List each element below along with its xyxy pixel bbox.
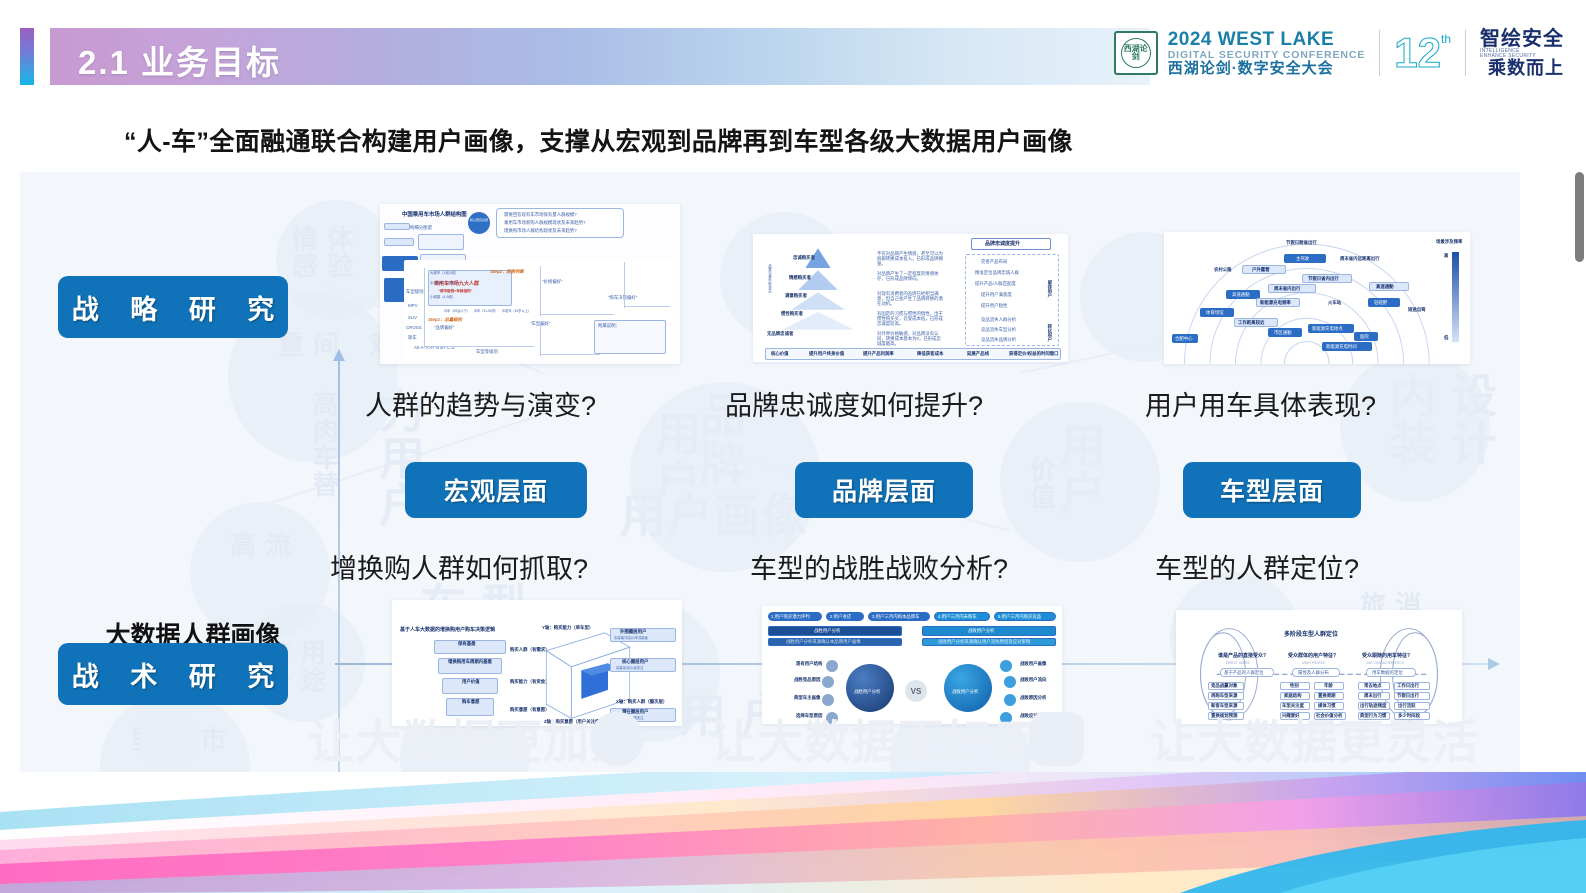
thumb3-label-6: 周末省内出行 xyxy=(1274,287,1300,292)
logo-line-3: 西湖论剑·数字安全大会 xyxy=(1168,61,1366,77)
thumb5-right-icon-1 xyxy=(1004,676,1016,688)
thumb1-step1: Step1：总量级别 xyxy=(428,318,462,323)
thumb1-tag-d: “购车决策偏好” xyxy=(608,296,637,301)
thumb4-callout-sub-0: 中高端/中高价/车流量级 xyxy=(614,637,648,641)
thumb2-bottom-item-4: 获得定价/权益的时间窗口 xyxy=(1009,352,1059,357)
thumbnail-brand-bottom[interactable]: 1.用户购买潜力评判 2.用户进店 3.用户三月内购本品牌车 4.用户三月内未购… xyxy=(762,606,1062,724)
thumb3-label-18: 新能源充电时间 xyxy=(1326,345,1357,350)
question-model-lower: 车型的人群定位? xyxy=(1155,547,1359,586)
thumb5-left-sub: 战胜用户分析来源确认本品牌用户画像 xyxy=(786,640,861,645)
thumb6-item-label-1-3: 置换周期 xyxy=(1318,694,1336,699)
decorative-ribbons xyxy=(0,772,1586,893)
layer-label-model: 车型层面 xyxy=(1220,472,1324,508)
thumb5-left-circle-label: 战胜用户分析 xyxy=(854,690,880,695)
thumb2-group-convert: 转化用户 xyxy=(1047,324,1052,342)
thumb1-axis-h3 xyxy=(540,354,600,355)
thumb3-label-11: 轻越野 xyxy=(1374,301,1387,306)
thumb1-axis-v2 xyxy=(540,266,541,316)
thumb6-item-label-0-1: 再购车型来源 xyxy=(1211,694,1237,699)
thumb5-step-label-0: 1.用户购买潜力评判 xyxy=(771,615,810,620)
bg-tag-4: 高 流 xyxy=(230,532,292,559)
thumb1-city-tier-2: 小城镇（4-5线） xyxy=(430,296,455,300)
thumb1-box-b xyxy=(384,238,414,246)
thumb5-right-item-2: 战败原因分析 xyxy=(1020,696,1046,701)
bg-tag-12: 内 设装 计 xyxy=(1390,372,1498,469)
thumb1-x-ticks: A0 A- A A+ B B+ C D xyxy=(414,346,455,351)
layer-pill-macro[interactable]: 宏观层面 xyxy=(405,462,587,518)
thumb1-tag-a: “品牌偏好” xyxy=(434,326,455,331)
thumb1-axis-v xyxy=(424,268,425,348)
tactics-research-label: 战 术 研 究 xyxy=(60,655,287,694)
thumb5-left-header: 战胜用户分析 xyxy=(814,629,840,634)
thumb5-step-label-4: 5.用户三月内购买竞品 xyxy=(998,615,1041,620)
thumb6-chip-label-1: 属性及人群分布 xyxy=(1298,671,1329,676)
thumb5-right-circle-label: 战败用户分析 xyxy=(952,690,978,695)
slogan-top: 智绘安全 xyxy=(1480,29,1564,49)
thumb4-callout-label-0: 外围圈层用户 xyxy=(620,630,646,635)
thumb5-step-label-3: 4.用户三月内未购车 xyxy=(938,615,977,620)
thumb3-label-16: 新能源充电地点 xyxy=(1312,327,1343,332)
thumb3-label-1: 周末省内远距离出行 xyxy=(1340,257,1380,262)
ribbon-svg xyxy=(0,772,1586,893)
thumb5-right-item-0: 战败用户画像 xyxy=(1020,662,1046,667)
thumb5-vs-badge: VS xyxy=(905,680,927,702)
thumb4-callout-sub-1: 高端化/高价/高关注 xyxy=(616,667,643,671)
content-panel: 情 体感 验 重 间 观 计 高 流 商 用务 途 高肉车替 用户 力用户 品牌… xyxy=(20,172,1520,772)
seal-inner-text: 西湖论剑 xyxy=(1121,38,1151,68)
thumb5-left-icon-1 xyxy=(822,676,834,688)
layer-pill-model[interactable]: 车型层面 xyxy=(1183,462,1361,518)
thumb2-retain-1: 精准定位品牌忠诚人群 xyxy=(975,271,1019,276)
thumb5-left-item-2: 典型车主画像 xyxy=(794,696,820,701)
thumb5-step-label-2: 3.用户三月内购本品牌车 xyxy=(872,615,920,620)
thumb5-left-item-0: 现有用户结构 xyxy=(796,662,822,667)
footer-wm-text-2: 让大数据更好用 xyxy=(710,718,1039,766)
thumb2-bottom-core: 核心价值 xyxy=(771,352,789,357)
thumb4-funnel-label-1: 增换购用车周期内基盘 xyxy=(448,660,492,665)
thumb3-label-0: 节假日跨省出行 xyxy=(1286,241,1317,246)
thumb6-chip-label-2: 用车数据的定位 xyxy=(1372,671,1403,676)
thumb6-item-label-1-5: 媒体习惯 xyxy=(1318,704,1336,709)
thumb4-title: 基于人车大数据的增换购用户购车决策逻辑 xyxy=(400,628,495,634)
thumb2-desc-4: 对外界价格敏感，对品牌没有认同，转换成本基本为0，已形成忠诚度最高。 xyxy=(877,332,943,347)
footer-wm-text-3: 让大数据更灵活 xyxy=(1150,718,1479,766)
thumb6-col-1-en: USER PROFILE xyxy=(1302,662,1325,666)
layer-label-macro: 宏观层面 xyxy=(444,472,548,508)
thumb1-center-tag-sub: “城市级别×年龄结构” xyxy=(438,290,472,294)
west-lake-seal-icon: 西湖论剑 xyxy=(1114,31,1158,75)
thumb1-x-axis: 车型等级别 xyxy=(476,350,498,355)
thumb3-label-14: 工作距离较近 xyxy=(1238,321,1264,326)
question-macro-lower: 增换购人群如何抓取? xyxy=(330,547,588,586)
thumb4-funnel-label-2: 用户价值 xyxy=(462,680,480,685)
thumb1-box-c xyxy=(418,234,464,250)
thumb5-right-header: 战败用户分析 xyxy=(968,629,994,634)
thumb2-axis-label: 品牌忠诚度由低到高 xyxy=(767,264,771,293)
edition-suffix: th xyxy=(1441,32,1451,46)
thumb2-pyramid-label-3: 惯性购买者 xyxy=(781,312,803,317)
thumb2-retain-2: 提升产品/人群匹配度 xyxy=(975,282,1016,287)
thumbnail-model-bottom[interactable]: 多阶段车型人群定位 谁是产品的直接受众? DIRECT USERS 受众群体的用… xyxy=(1176,610,1462,724)
thumb1-title: 中国乘用车市场人群结构图 xyxy=(402,213,467,219)
thumb3-label-13: 体育场馆 xyxy=(1206,311,1224,316)
thumb3-label-8: 高速通勤 xyxy=(1232,293,1250,298)
thumb5-step-label-1: 2.用户进店 xyxy=(830,615,851,620)
thumb2-pyramid-label-1: 情感购买者 xyxy=(789,276,811,281)
footer-wm-icon-2 xyxy=(590,712,644,766)
footer-wm-icon-1 xyxy=(140,712,194,766)
thumb2-pyramid-label-0: 忠诚购买者 xyxy=(793,256,815,261)
bg-tag-6: 高肉车替 xyxy=(310,390,337,498)
slide-headline: “人-车”全面融通联合构建用户画像，支撑从宏观到品牌再到车型各级大数据用户画像 xyxy=(124,122,1073,158)
thumb3-label-17: 医院 xyxy=(1360,335,1369,340)
thumb1-axis-v3 xyxy=(540,322,541,356)
question-brand-upper: 品牌忠诚度如何提升? xyxy=(725,384,983,423)
thumb6-item-label-0-2: 新客车型来源 xyxy=(1211,704,1237,709)
thumb4-axis-y: Y轴：购买能力（单车型） xyxy=(542,626,593,631)
logo-divider-2 xyxy=(1465,30,1466,76)
thumb3-legend-bar xyxy=(1452,252,1459,342)
thumb5-left-circle xyxy=(846,664,894,712)
thumb3-legend-high: 高 xyxy=(1444,254,1448,259)
thumb6-col-2-en: CAR CHARACTERISTICS xyxy=(1366,662,1404,666)
thumb6-item-label-2-5: 出行活跃 xyxy=(1398,704,1416,709)
thumb2-desc-3: 有固定的习惯与惯性的惰性，出于惯性购买买，忍受成本低，已形成忠诚度较高。 xyxy=(877,312,943,327)
thumb6-item-label-1-1: 年龄 xyxy=(1324,684,1333,689)
thumb2-pyramid-icon xyxy=(773,246,863,334)
logo-line-2: DIGITAL SECURITY CONFERENCE xyxy=(1168,50,1366,61)
thumb2-retain-0: 完善产品布局 xyxy=(981,260,1007,265)
thumb3-radar-icon xyxy=(1164,232,1470,364)
thumb2-convert-0: 竞品流失人群分析 xyxy=(981,318,1016,323)
thumb3-label-9: 新能源充电频率 xyxy=(1260,301,1291,306)
thumb1-note-title: 附属说明： xyxy=(598,324,620,329)
thumb1-axis-h xyxy=(424,346,534,347)
thumb3-legend-low: 低 xyxy=(1444,336,1448,341)
thumb3-label-5: 农村公路 xyxy=(1214,268,1232,273)
thumb3-center-label: 合肥中心 xyxy=(1175,337,1193,342)
thumb2-retain-3: 提升用户满意度 xyxy=(981,293,1012,298)
thumb3-label-3: 主驾驶 xyxy=(1296,257,1309,262)
thumb6-item-label-2-2: 周末出行 xyxy=(1364,694,1382,699)
bg-tag-10: 用户 xyxy=(1060,422,1107,519)
thumb1-axis-h2 xyxy=(540,314,614,315)
thumb6-chip-label-0: 基于产品的人群定位 xyxy=(1224,671,1264,676)
thumb4-funnel-label-3: 购车意愿 xyxy=(462,700,480,705)
thumb1-y-axis: 车型级别 xyxy=(406,290,424,295)
thumb6-col-0-cn: 谁是产品的直接受众? xyxy=(1218,654,1266,660)
thumb3-label-15: 市区通勤 xyxy=(1274,331,1292,336)
thumb1-y-tick-0: MPV xyxy=(408,304,418,309)
thumb6-col-1-cn: 受众群体的用户特征? xyxy=(1288,654,1336,660)
thumb2-bottom-item-1: 提升产品利润率 xyxy=(863,352,894,357)
thumb2-bottom-item-2: 降低获客成本 xyxy=(917,352,943,357)
thumb2-desc-1: 对品牌产生了一定程度的情感依存，已形成品牌倾向。 xyxy=(877,272,943,282)
thumb1-question-1: 需要回答现有车市场保有量人群规模? xyxy=(504,213,577,218)
thumb3-label-10: 火车站 xyxy=(1328,301,1341,306)
thumb1-age-0: 青年（90后以下） xyxy=(444,310,470,314)
thumb1-step2: Step2：趋势判断 xyxy=(490,270,524,275)
thumb2-convert-2: 竞品流失品牌分析 xyxy=(981,338,1016,343)
thumb5-right-item-1: 战败用户流向 xyxy=(1020,678,1046,683)
thumb2-retain-4: 提升用户粘性 xyxy=(981,304,1007,309)
thumb1-y-tick-1: SUV xyxy=(408,316,417,321)
vertical-scrollbar[interactable] xyxy=(1575,172,1584,262)
footer-wm-text-1: 让大数据更加大 xyxy=(308,718,637,766)
thumb2-title: 品牌忠诚度提升 xyxy=(985,242,1020,248)
thumb2-bottom-item-0: 提升用户终身价值 xyxy=(809,352,844,357)
thumb1-tag-b: “价格偏好” xyxy=(542,280,563,285)
thumb2-desc-0: 不仅对品牌产生情感，甚至可以为抵御转换成本投入，已形成品牌拥趸。 xyxy=(877,252,943,267)
presentation-slide: 2.1 业务目标 西湖论剑 2024 WEST LAKE DIGITAL SEC… xyxy=(0,0,1586,893)
thumb3-label-4: 节假日省内出行 xyxy=(1308,277,1339,282)
logo-line-1: 2024 WEST LAKE xyxy=(1168,30,1366,50)
thumbnail-macro-bottom[interactable]: 基于人车大数据的增换购用户购车决策逻辑 保有基盘 增换购用车周期内基盘 用户价值… xyxy=(392,600,682,726)
footer-wm-icon-3 xyxy=(1030,712,1084,766)
strategy-research-label: 战 略 研 究 xyxy=(60,288,287,327)
thumbnail-model-top[interactable]: 主驾驶 节假日跨省出行 周末省内远距离出行 户外露营 农村公路 节假日省内出行 … xyxy=(1164,232,1470,364)
question-macro-upper: 人群的趋势与演变? xyxy=(365,384,596,423)
conference-slogan: 智绘安全 INTELLIGENCE ENHANCE SECURITY 乘数而上 xyxy=(1480,29,1564,77)
thumb5-right-sub: 战败用户分析来源确认用户流失原因及应对策略 xyxy=(938,640,1030,645)
thumb5-vs-label: VS xyxy=(911,687,922,696)
thumbnail-brand-top[interactable]: 品牌忠诚度提升 品牌忠诚度由低到高 忠诚购买者 情感购买者 满意购买者 惯性购买… xyxy=(753,234,1068,362)
thumb6-item-label-0-0: 竞品战赢对象 xyxy=(1211,684,1237,689)
slogan-bottom: 乘数而上 xyxy=(1480,59,1564,77)
thumb6-item-label-2-1: 工作日出行 xyxy=(1397,684,1419,689)
thumb5-right-icon-0 xyxy=(1000,660,1012,672)
logo-divider-1 xyxy=(1379,30,1380,76)
thumb2-desc-2: 对现有消费者的品牌已经相当满意，但自己会产生了品牌转换的潜在动机。 xyxy=(877,292,943,307)
thumb6-item-label-1-0: 性别 xyxy=(1290,684,1299,689)
thumb4-axis-x: X轴：购买人群（圈次层） xyxy=(616,700,667,705)
thumb1-axis-v4 xyxy=(624,262,625,308)
logo-text-block: 2024 WEST LAKE DIGITAL SECURITY CONFEREN… xyxy=(1168,30,1366,77)
conference-logo: 西湖论剑 2024 WEST LAKE DIGITAL SECURITY CON… xyxy=(1114,22,1564,84)
thumbnail-macro-top[interactable]: 中国乘用车市场人群结构图 汽车市场结构细分图谱 核心研究议题 需要回答现有车市场… xyxy=(380,204,680,364)
thumb6-item-label-2-0: 常去地点 xyxy=(1364,684,1382,689)
thumb6-item-label-2-3: 节假日出行 xyxy=(1397,694,1419,699)
thumb5-right-icon-2 xyxy=(1004,694,1016,706)
layer-label-brand: 品牌层面 xyxy=(832,472,936,508)
thumb3-label-7: 高速通勤 xyxy=(1376,285,1394,290)
thumb1-city-tier-0: 大城市（1线/2线） xyxy=(430,272,458,276)
thumb6-col-0-en: DIRECT USERS xyxy=(1226,662,1250,666)
thumb5-right-circle xyxy=(944,664,992,712)
thumb2-convert-1: 竞品流失车型分析 xyxy=(981,328,1016,333)
thumb4-funnel-label-0: 保有基盘 xyxy=(458,642,476,647)
thumb3-legend-title: 场景涉及频率 xyxy=(1436,240,1462,245)
strategy-research-pill[interactable]: 战 略 研 究 xyxy=(58,276,288,338)
layer-pill-brand[interactable]: 品牌层面 xyxy=(795,462,973,518)
bg-tag-1: 情 体感 验 xyxy=(292,226,354,281)
thumb5-left-icon-2 xyxy=(822,694,834,706)
bg-tag-2: 重 间 xyxy=(278,332,340,359)
thumb3-label-2: 户外露营 xyxy=(1252,268,1270,273)
thumb2-pyramid-label-2: 满意购买者 xyxy=(785,294,807,299)
edition-number: 12 xyxy=(1394,32,1441,74)
bg-tag-11: 价值 xyxy=(1030,457,1057,512)
thumb1-question-2: 乘用车市场新购人群规模现状及未来趋势? xyxy=(504,221,585,226)
thumb2-pyramid-label-4: 无品牌忠诚者 xyxy=(767,332,793,337)
thumb3-label-12: 短途自驾 xyxy=(1408,308,1426,313)
question-model-upper: 用户用车具体表现? xyxy=(1145,384,1376,423)
tactics-research-pill[interactable]: 战 术 研 究 xyxy=(58,643,288,705)
thumb1-box-a xyxy=(384,223,410,230)
thumb2-bottom-item-3: 延展产品线 xyxy=(967,352,989,357)
thumb1-core-badge-label: 核心研究议题 xyxy=(470,219,488,222)
thumb6-item-label-1-2: 家庭结构 xyxy=(1284,694,1302,699)
thumb1-age-1: 中年（31-50岁） xyxy=(474,310,498,314)
page-title: 2.1 业务目标 xyxy=(78,36,281,84)
thumb1-axis-h4 xyxy=(624,306,670,307)
thumb6-item-label-1-4: 车型关注度 xyxy=(1282,704,1304,709)
thumb1-city-tier-1: 中小城市（3-5线） xyxy=(430,282,459,286)
thumb5-left-item-1: 战胜竞品原因 xyxy=(794,678,820,683)
thumb6-col-2-cn: 受众跟随的用车特征? xyxy=(1362,654,1410,660)
thumb1-age-2: 中老年（51岁以上） xyxy=(502,310,531,314)
slide-header: 2.1 业务目标 西湖论剑 2024 WEST LAKE DIGITAL SEC… xyxy=(0,0,1586,110)
thumb1-question-3: 增换购市场人群结构现状及未来趋势? xyxy=(504,229,577,234)
thumb5-left-icon-0 xyxy=(826,660,838,672)
thumb1-y-tick-3: 轿车 xyxy=(408,336,417,341)
thumb6-item-label-2-4: 出行轨迹频度 xyxy=(1360,704,1386,709)
question-brand-lower: 车型的战胜战败分析? xyxy=(750,547,1008,586)
thumb2-group-retain: 留存用户 xyxy=(1047,280,1052,298)
thumb1-core-badge xyxy=(468,212,490,234)
bg-tag-14: 用户画像 xyxy=(620,492,808,540)
thumb4-callout-label-1: 核心圈层用户 xyxy=(622,660,648,665)
title-accent-bar xyxy=(20,28,34,85)
thumb1-y-tick-2: CROSS xyxy=(406,326,422,331)
